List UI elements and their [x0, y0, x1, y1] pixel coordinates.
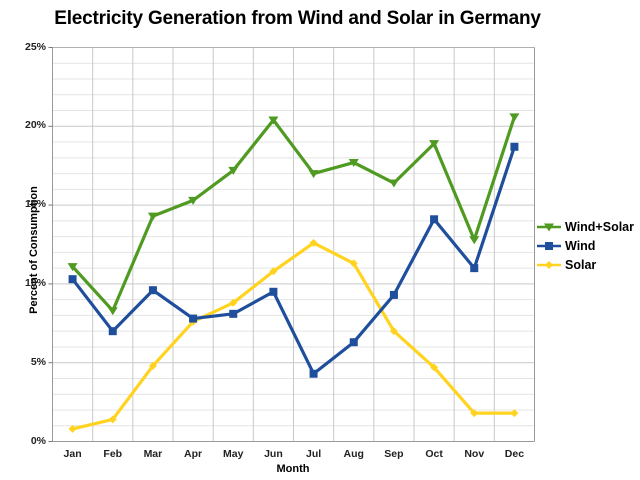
y-tick-label: 0%	[2, 435, 46, 447]
chart-legend: Wind+SolarWindSolar	[536, 217, 634, 274]
chart-container: Electricity Generation from Wind and Sol…	[0, 0, 640, 480]
legend-label: Wind+Solar	[565, 220, 634, 234]
legend-marker-icon	[536, 257, 562, 273]
legend-item-wind-plus-solar[interactable]: Wind+Solar	[536, 217, 634, 236]
y-tick-label: 25%	[2, 41, 46, 53]
x-tick-label: Dec	[484, 448, 544, 460]
x-axis-title: Month	[52, 463, 534, 475]
axis-lines	[49, 48, 535, 442]
y-tick-label: 20%	[2, 119, 46, 131]
y-tick-label: 5%	[2, 356, 46, 368]
legend-item-wind[interactable]: Wind	[536, 236, 634, 255]
legend-marker-icon	[536, 219, 562, 235]
grid-vertical	[53, 48, 535, 442]
y-tick-label: 10%	[2, 277, 46, 289]
legend-item-solar[interactable]: Solar	[536, 255, 634, 274]
legend-label: Solar	[565, 258, 596, 272]
legend-label: Wind	[565, 239, 595, 253]
legend-marker-icon	[536, 238, 562, 254]
y-tick-label: 15%	[2, 198, 46, 210]
y-axis-title: Percent of Consumption	[28, 150, 40, 350]
